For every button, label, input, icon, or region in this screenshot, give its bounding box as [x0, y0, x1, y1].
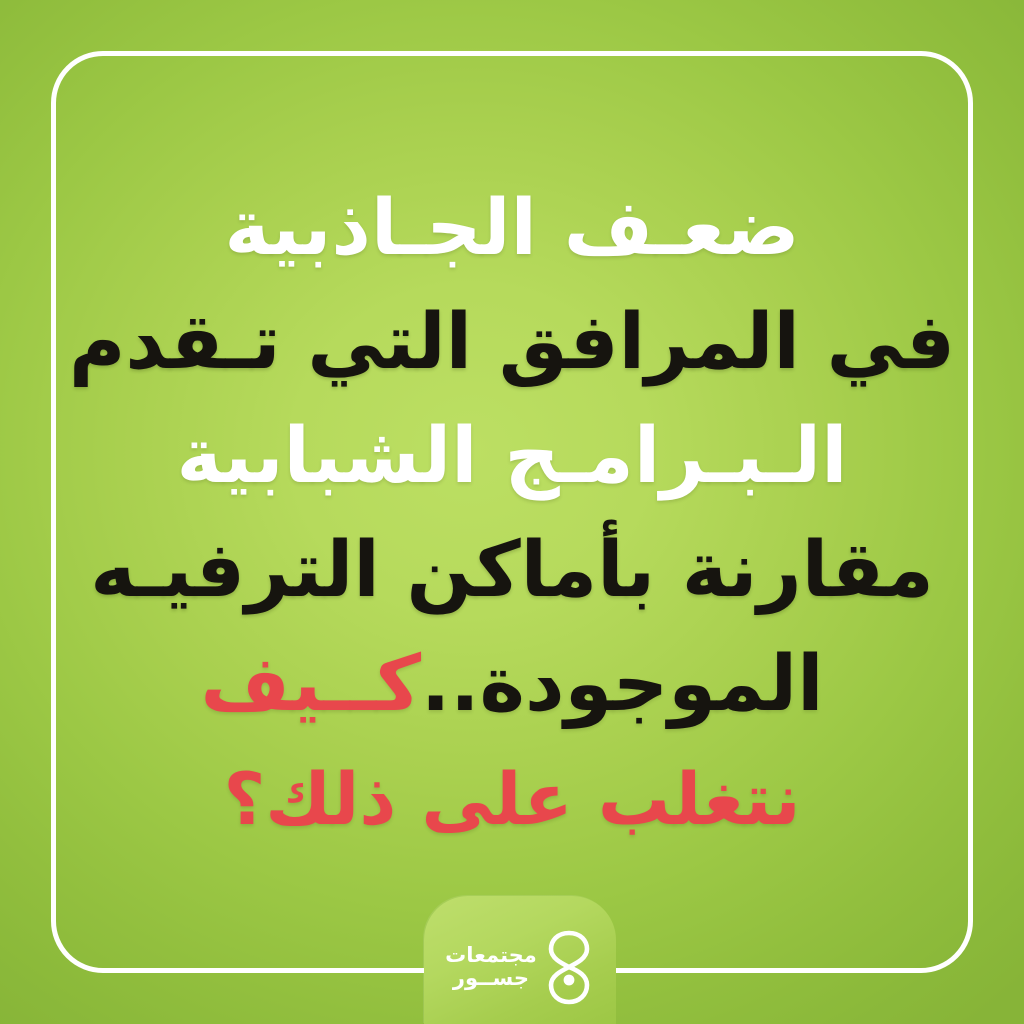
- brand-name-line-1: مجتمعات: [445, 944, 537, 967]
- headline-line-2: في المرافق التي تـقدم: [0, 286, 1024, 400]
- infinity-loop-icon: [543, 925, 595, 1009]
- headline-line-1: ضعـف الجـاذبية: [0, 172, 1024, 286]
- headline-line-4: مقارنة بأماكن الترفيـه: [0, 514, 1024, 628]
- headline-line-5-dark-segment: الموجودة..: [421, 640, 823, 729]
- headline-line-3: الـبـرامـج الشبابية: [0, 400, 1024, 514]
- brand-logo-content: مجتمعات جســور: [424, 896, 616, 1024]
- brand-wordmark: مجتمعات جســور: [445, 944, 537, 989]
- headline-line-5: الموجودة..كــيف: [0, 628, 1024, 742]
- social-post-card: ضعـف الجـاذبية في المرافق التي تـقدم الـ…: [0, 0, 1024, 1024]
- headline-line-6: نتغلب على ذلك؟: [0, 742, 1024, 856]
- headline-line-5-red-segment: كــيف: [200, 640, 421, 729]
- headline-block: ضعـف الجـاذبية في المرافق التي تـقدم الـ…: [0, 172, 1024, 856]
- brand-name-line-2: جســور: [445, 967, 537, 990]
- brand-logo-badge[interactable]: مجتمعات جســور: [424, 896, 616, 1024]
